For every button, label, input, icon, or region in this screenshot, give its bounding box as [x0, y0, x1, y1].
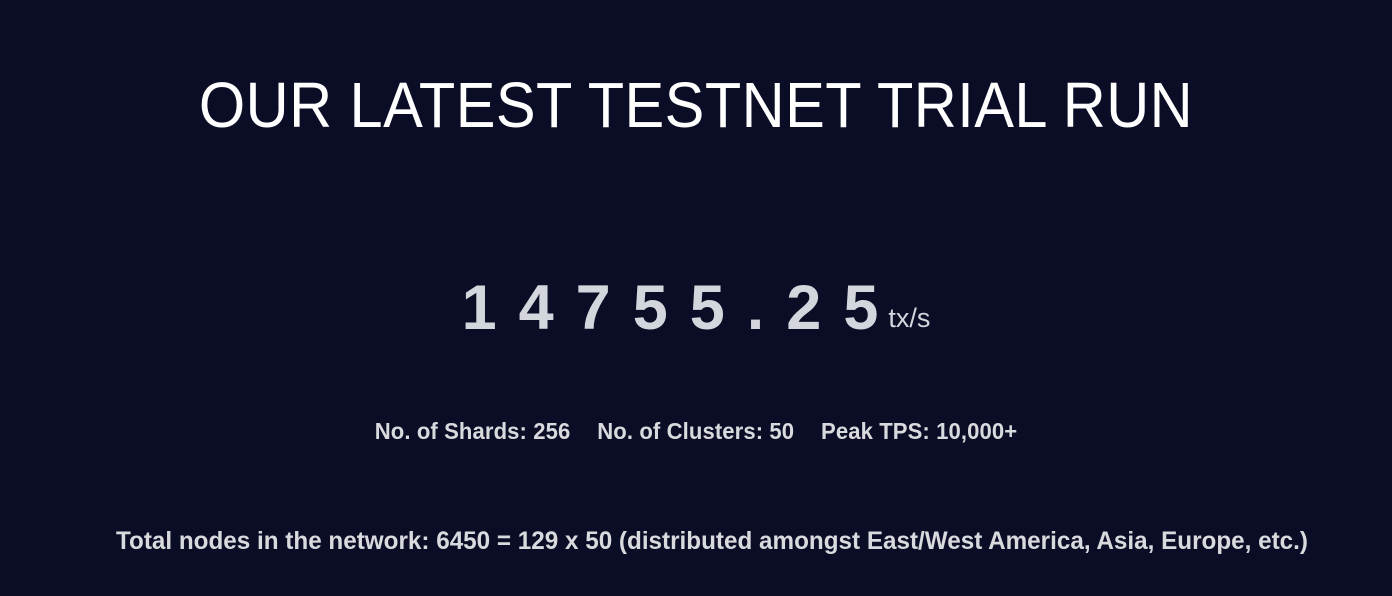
throughput-value: 14755.25 — [462, 276, 901, 340]
stats-summary-row: No. of Shards: 256No. of Clusters: 50Pea… — [28, 416, 1364, 446]
stat-peak-tps: Peak TPS: 10,000+ — [821, 416, 1017, 446]
stat-clusters: No. of Clusters: 50 — [597, 416, 794, 446]
testnet-stats-panel: OUR LATEST TESTNET TRIAL RUN 14755.25tx/… — [0, 0, 1392, 596]
stat-shards: No. of Shards: 256 — [375, 416, 571, 446]
throughput-unit: tx/s — [888, 286, 930, 350]
throughput-counter: 14755.25tx/s — [0, 276, 1392, 352]
network-nodes-footnote: Total nodes in the network: 6450 = 129 x… — [85, 519, 1338, 563]
page-title: OUR LATEST TESTNET TRIAL RUN — [49, 67, 1344, 143]
